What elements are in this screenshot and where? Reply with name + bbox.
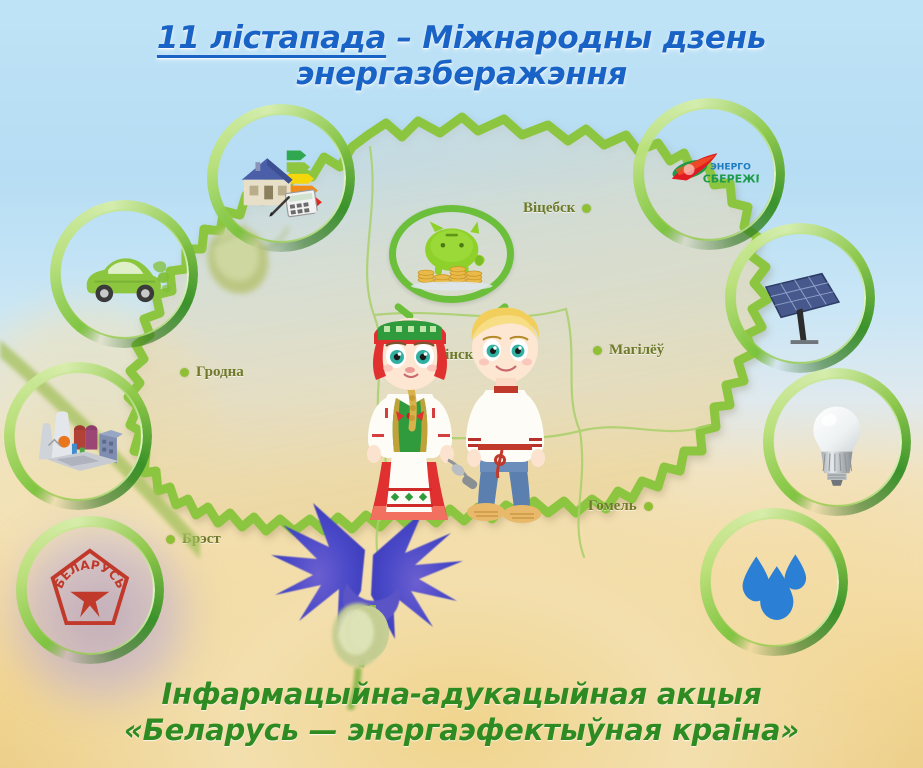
- badge-quality-mark[interactable]: БЕЛАРУСЬ: [16, 516, 164, 664]
- folk-characters: [330, 282, 570, 532]
- poster-canvas: Віцебск Магілёў Мінск Гродна Гомель Брэс…: [0, 0, 923, 768]
- page-title: 11 лістапада – Міжнародны дзень энергазб…: [0, 20, 923, 92]
- city-name: Віцебск: [523, 200, 575, 217]
- city-label-homiel: Гомель: [588, 498, 653, 515]
- city-name: Магілёў: [609, 342, 664, 359]
- city-dot-icon: [166, 535, 175, 544]
- badge-eco-car[interactable]: [50, 200, 198, 348]
- city-name: Гомель: [588, 498, 637, 515]
- badge-led-lamp[interactable]: [763, 368, 911, 516]
- water-drops-icon: [725, 533, 823, 631]
- factory-icon: [29, 387, 127, 485]
- city-name: Брэст: [182, 531, 221, 548]
- solar-panel-icon: [751, 249, 850, 348]
- led-bulb-icon: [788, 393, 886, 491]
- quality-mark-text: БЕЛАРУСЬ: [52, 558, 128, 591]
- piggy-bank-coins-icon: [403, 216, 501, 292]
- svg-text:БЕЛАРУСЬ: БЕЛАРУСЬ: [52, 558, 128, 591]
- city-label-mahiliou: Магілёў: [593, 342, 664, 359]
- eco-car-icon: [75, 225, 173, 323]
- badge-water-saving[interactable]: [700, 508, 848, 656]
- belarus-quality-mark-icon: БЕЛАРУСЬ: [41, 541, 139, 639]
- campaign-slogan: Інфармацыйна-адукацыйная акцыя «Беларусь…: [0, 677, 923, 748]
- page-title-date: 11 лістапада: [157, 20, 386, 56]
- belarusian-girl: [367, 318, 454, 520]
- belarusian-boy: [466, 308, 545, 523]
- city-name: Гродна: [196, 364, 244, 381]
- logo-line-1: ЭНЕРГО: [710, 162, 751, 172]
- city-dot-icon: [582, 204, 591, 213]
- city-label-hrodna: Гродна: [180, 364, 244, 381]
- city-dot-icon: [180, 368, 189, 377]
- badge-industry[interactable]: [4, 362, 152, 510]
- campaign-slogan-line1: Інфармацыйна-адукацыйная акцыя: [0, 677, 923, 712]
- logo-line-2: СБЕРЕЖЕНИЕ: [703, 172, 760, 185]
- campaign-slogan-line2: «Беларусь — энергаэфектыўная краіна»: [0, 713, 923, 748]
- energy-saving-logo-icon: ЭНЕРГО СБЕРЕЖЕНИЕ: [659, 124, 759, 224]
- badge-solar-panel[interactable]: [725, 223, 875, 373]
- house-energy-rating-icon: [232, 129, 330, 227]
- city-label-brest: Брэст: [166, 531, 221, 548]
- city-dot-icon: [644, 502, 653, 511]
- city-label-viciebsk: Віцебск: [523, 200, 591, 217]
- badge-energy-efficient-house[interactable]: [207, 104, 355, 252]
- city-dot-icon: [593, 346, 602, 355]
